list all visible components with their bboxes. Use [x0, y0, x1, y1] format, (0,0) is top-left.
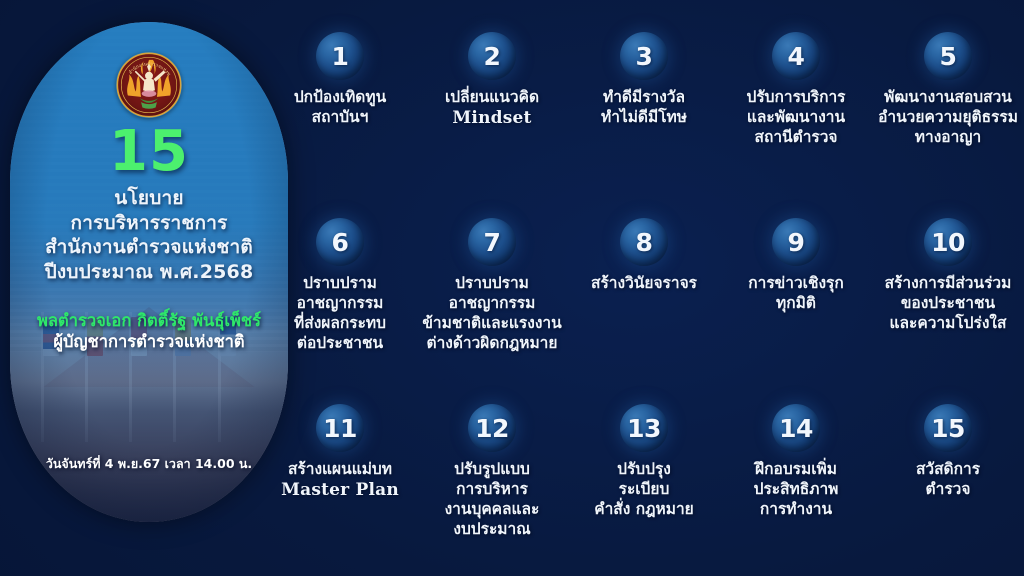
policy-label-line: อำนวยความยุติธรรม: [878, 107, 1018, 127]
policy-label-line: สร้างแผนแม่บท: [281, 459, 399, 479]
policy-number-badge: 15: [924, 404, 972, 452]
policy-label-line: ที่ส่งผลกระทบ: [294, 313, 386, 333]
policy-number: 14: [779, 416, 813, 441]
policy-item-12[interactable]: 12ปรับรูปแบบการบริหารงานบุคคลและงบประมาณ: [416, 390, 568, 576]
policy-number: 7: [484, 230, 501, 255]
policy-item-14[interactable]: 14ฝึกอบรมเพิ่มประสิทธิภาพการทำงาน: [720, 390, 872, 576]
policy-number-badge: 13: [620, 404, 668, 452]
policy-item-8[interactable]: 8สร้างวินัยจราจร: [568, 204, 720, 390]
policy-label-line: ปราบปราม: [422, 273, 561, 293]
policy-label-line: ทำไม่ดีมีโทษ: [601, 107, 687, 127]
policy-item-15[interactable]: 15สวัสดิการตำรวจ: [872, 390, 1024, 576]
policy-item-3[interactable]: 3ทำดีมีรางวัลทำไม่ดีมีโทษ: [568, 18, 720, 204]
policy-number: 5: [940, 44, 957, 69]
policy-label-line: ปรับการบริการ: [747, 87, 846, 107]
policy-number: 10: [931, 230, 965, 255]
policy-label-line: คำสั่ง กฎหมาย: [594, 499, 694, 519]
policy-number: 6: [332, 230, 349, 255]
policy-number-badge: 7: [468, 218, 516, 266]
event-datetime: วันจันทร์ที่ 4 พ.ย.67 เวลา 14.00 น.: [10, 454, 288, 474]
policy-label-line: การข่าวเชิงรุก: [748, 273, 844, 293]
policy-label-line: พัฒนางานสอบสวน: [878, 87, 1018, 107]
title-panel: สำนักงานตำรวจแห่งชาติ 15 นโยบาย การบริหา…: [10, 22, 288, 522]
policy-number: 1: [332, 44, 349, 69]
policy-label-line: และความโปร่งใส: [885, 313, 1012, 333]
policy-number-badge: 8: [620, 218, 668, 266]
policy-label: ปรับการบริการและพัฒนางานสถานีตำรวจ: [747, 87, 846, 147]
policy-number-badge: 4: [772, 32, 820, 80]
policy-label-line: งบประมาณ: [445, 519, 540, 539]
policy-number: 3: [636, 44, 653, 69]
policy-label-line: ประสิทธิภาพ: [754, 479, 839, 499]
policy-label-line: สถานีตำรวจ: [747, 127, 846, 147]
policy-label-line: สถาบันฯ: [294, 107, 386, 127]
policy-label: เปลี่ยนแนวคิดMindset: [445, 87, 539, 129]
policy-item-9[interactable]: 9การข่าวเชิงรุกทุกมิติ: [720, 204, 872, 390]
policy-label: การข่าวเชิงรุกทุกมิติ: [748, 273, 844, 313]
policy-label: ปราบปรามอาชญากรรมข้ามชาติและแรงงานต่างด้…: [422, 273, 561, 354]
policy-label-line: ข้ามชาติและแรงงาน: [422, 313, 561, 333]
policy-item-5[interactable]: 5พัฒนางานสอบสวนอำนวยความยุติธรรมทางอาญา: [872, 18, 1024, 204]
policy-item-13[interactable]: 13ปรับปรุงระเบียบคำสั่ง กฎหมาย: [568, 390, 720, 576]
title-line-2: การบริหารราชการ: [45, 211, 254, 236]
policy-label-line: สร้างการมีส่วนร่วม: [885, 273, 1012, 293]
royal-thai-police-emblem: สำนักงานตำรวจแห่งชาติ: [116, 52, 182, 118]
policy-label-line: ของประชาชน: [885, 293, 1012, 313]
policy-label-line: ตำรวจ: [916, 479, 980, 499]
policy-label-line: สร้างวินัยจราจร: [591, 273, 697, 293]
title-line-4: ปีงบประมาณ พ.ศ.2568: [45, 260, 254, 285]
policy-label: ปกป้องเทิดทูนสถาบันฯ: [294, 87, 386, 127]
policy-label-line: งานบุคคลและ: [445, 499, 540, 519]
policy-number: 13: [627, 416, 661, 441]
policy-label-line: และพัฒนางาน: [747, 107, 846, 127]
policy-number: 9: [788, 230, 805, 255]
policy-label-line: ปราบปราม: [294, 273, 386, 293]
policy-label-line: เปลี่ยนแนวคิด: [445, 87, 539, 107]
policy-label-line: ต่อประชาชน: [294, 333, 386, 353]
policy-item-7[interactable]: 7ปราบปรามอาชญากรรมข้ามชาติและแรงงานต่างด…: [416, 204, 568, 390]
policy-number: 12: [475, 416, 509, 441]
title-line-1: นโยบาย: [45, 186, 254, 211]
policy-item-6[interactable]: 6ปราบปรามอาชญากรรมที่ส่งผลกระทบต่อประชาช…: [264, 204, 416, 390]
policy-item-10[interactable]: 10สร้างการมีส่วนร่วมของประชาชนและความโปร…: [872, 204, 1024, 390]
policy-item-1[interactable]: 1ปกป้องเทิดทูนสถาบันฯ: [264, 18, 416, 204]
policy-label: ฝึกอบรมเพิ่มประสิทธิภาพการทำงาน: [754, 459, 839, 519]
policy-label-line: ปกป้องเทิดทูน: [294, 87, 386, 107]
commander-block: พลตำรวจเอก กิตติ์รัฐ พันธุ์เพ็ชร์ ผู้บัญ…: [37, 311, 261, 354]
policy-grid: 1ปกป้องเทิดทูนสถาบันฯ2เปลี่ยนแนวคิดMinds…: [264, 18, 1024, 576]
policy-number-badge: 12: [468, 404, 516, 452]
policy-label-line: การบริหาร: [445, 479, 540, 499]
policy-label: พัฒนางานสอบสวนอำนวยความยุติธรรมทางอาญา: [878, 87, 1018, 147]
policy-label-line: ทำดีมีรางวัล: [601, 87, 687, 107]
policy-number-badge: 9: [772, 218, 820, 266]
policy-label-line: การทำงาน: [754, 499, 839, 519]
commander-name: พลตำรวจเอก กิตติ์รัฐ พันธุ์เพ็ชร์: [37, 311, 261, 332]
policy-item-11[interactable]: 11สร้างแผนแม่บทMaster Plan: [264, 390, 416, 576]
policy-number: 11: [323, 416, 357, 441]
policy-number: 15: [931, 416, 965, 441]
policy-label-line: ทางอาญา: [878, 127, 1018, 147]
policy-label: สวัสดิการตำรวจ: [916, 459, 980, 499]
policy-label-line: ฝึกอบรมเพิ่ม: [754, 459, 839, 479]
policy-number-badge: 14: [772, 404, 820, 452]
policy-label-line: อาชญากรรม: [422, 293, 561, 313]
infographic-canvas: สำนักงานตำรวจแห่งชาติ 15 นโยบาย การบริหา…: [0, 0, 1024, 576]
policy-label-line: ปรับรูปแบบ: [445, 459, 540, 479]
policy-number-badge: 10: [924, 218, 972, 266]
policy-item-4[interactable]: 4ปรับการบริการและพัฒนางานสถานีตำรวจ: [720, 18, 872, 204]
policy-label: ปราบปรามอาชญากรรมที่ส่งผลกระทบต่อประชาชน: [294, 273, 386, 354]
policy-number-badge: 3: [620, 32, 668, 80]
policy-label-line: ระเบียบ: [594, 479, 694, 499]
policy-number: 2: [484, 44, 501, 69]
policy-label-line: ปรับปรุง: [594, 459, 694, 479]
policy-label: สร้างการมีส่วนร่วมของประชาชนและความโปร่ง…: [885, 273, 1012, 333]
policy-label: ปรับรูปแบบการบริหารงานบุคคลและงบประมาณ: [445, 459, 540, 540]
policy-label: ปรับปรุงระเบียบคำสั่ง กฎหมาย: [594, 459, 694, 519]
policy-number-badge: 2: [468, 32, 516, 80]
commander-rank: ผู้บัญชาการตำรวจแห่งชาติ: [37, 331, 261, 353]
policy-number-badge: 5: [924, 32, 972, 80]
policy-item-2[interactable]: 2เปลี่ยนแนวคิดMindset: [416, 18, 568, 204]
policy-label-line: สวัสดิการ: [916, 459, 980, 479]
policy-label: ทำดีมีรางวัลทำไม่ดีมีโทษ: [601, 87, 687, 127]
title-line-3: สำนักงานตำรวจแห่งชาติ: [45, 235, 254, 260]
policy-label-latin: Mindset: [445, 107, 539, 129]
policy-number-badge: 6: [316, 218, 364, 266]
policy-label: สร้างวินัยจราจร: [591, 273, 697, 293]
policy-number: 8: [636, 230, 653, 255]
policy-count: 15: [109, 124, 189, 180]
policy-label: สร้างแผนแม่บทMaster Plan: [281, 459, 399, 501]
policy-label-line: ทุกมิติ: [748, 293, 844, 313]
policy-label-latin: Master Plan: [281, 479, 399, 501]
policy-number-badge: 11: [316, 404, 364, 452]
policy-label-line: อาชญากรรม: [294, 293, 386, 313]
policy-number: 4: [788, 44, 805, 69]
panel-title: นโยบาย การบริหารราชการ สำนักงานตำรวจแห่ง…: [45, 186, 254, 285]
policy-label-line: ต่างด้าวผิดกฎหมาย: [422, 333, 561, 353]
policy-number-badge: 1: [316, 32, 364, 80]
